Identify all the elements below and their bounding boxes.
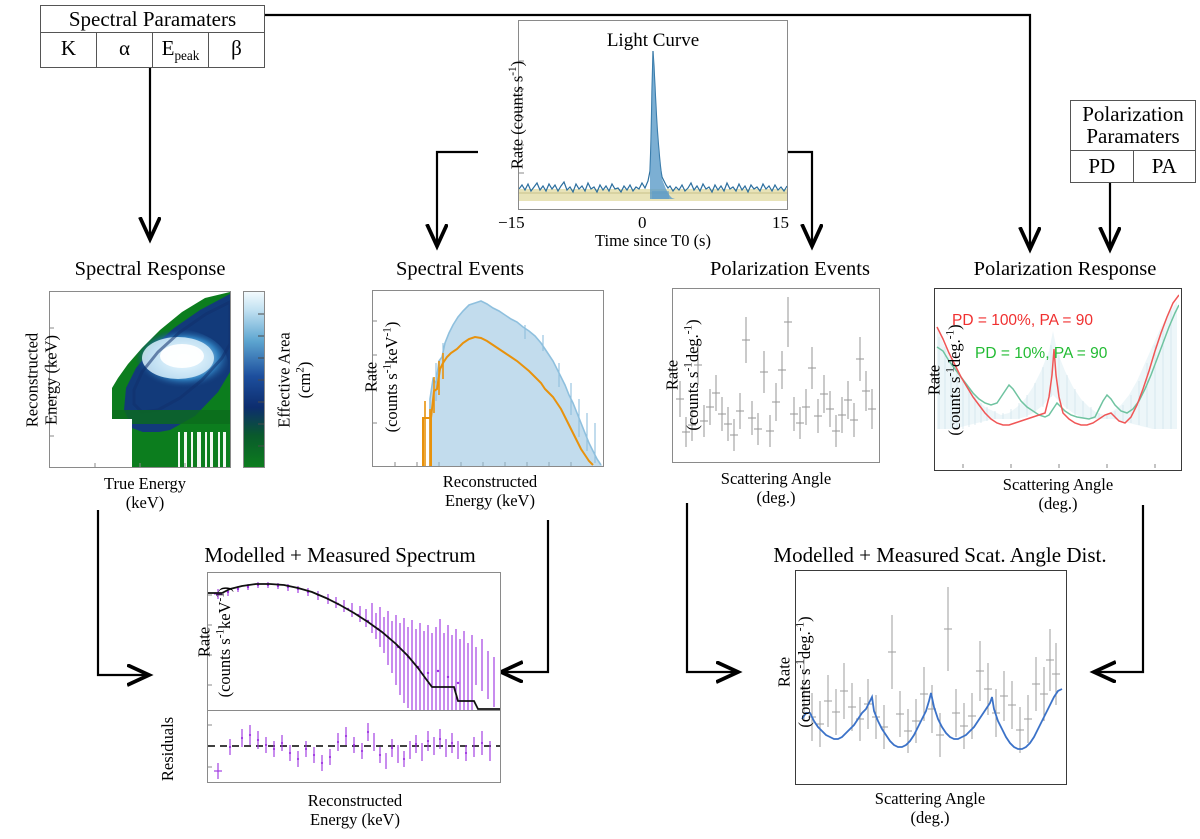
spectral-response-heatmap bbox=[50, 292, 230, 467]
param-cell-alpha: α bbox=[97, 33, 153, 67]
error-bars bbox=[800, 587, 1060, 757]
colorbar-gradient bbox=[244, 292, 264, 467]
param-cell-K: K bbox=[41, 33, 97, 67]
light-curve-plot: Light Curve bbox=[519, 21, 787, 209]
arrow-lightcurve-to-specevents bbox=[437, 152, 478, 245]
spectral-events-ylabel: Rate(counts s-1keV-1) bbox=[363, 290, 387, 465]
polarization-response-title: Polarization Response bbox=[930, 258, 1200, 281]
polarization-parameters-table: Polarization Paramaters PD PA bbox=[1070, 100, 1196, 183]
light-curve-ylabel: Rate (counts s-1) bbox=[507, 20, 527, 210]
polarization-events-panel bbox=[672, 288, 880, 463]
polarization-parameters-title: Polarization Paramaters bbox=[1071, 101, 1195, 151]
error-bars bbox=[676, 297, 876, 451]
spectral-events-plot bbox=[373, 291, 603, 466]
modelled-spectrum-residuals-panel bbox=[207, 711, 501, 783]
polarization-response-annotation-1: PD = 100%, PA = 90 bbox=[952, 312, 1093, 330]
modelled-spectrum-xlabel: ReconstructedEnergy (keV) bbox=[245, 792, 465, 830]
spectral-response-panel bbox=[49, 291, 231, 468]
spectral-response-xlabel: True Energy(keV) bbox=[55, 475, 235, 513]
modelled-scat-panel bbox=[795, 570, 1067, 785]
param-cell-epeak: Epeak bbox=[153, 33, 209, 67]
modelled-scat-ylabel: Rate(counts s-1deg.-1) bbox=[776, 585, 800, 760]
light-curve-panel: Light Curve bbox=[518, 20, 788, 210]
modelled-spectrum-plot bbox=[208, 573, 500, 710]
param-cell-PD: PD bbox=[1071, 151, 1134, 182]
xtick-15: 15 bbox=[772, 213, 789, 233]
spectral-response-ylabel: ReconstructedEnergy (keV) bbox=[24, 293, 48, 468]
polarization-response-ylabel: Rate(counts s-1deg.-1) bbox=[926, 293, 950, 468]
polarization-events-title: Polarization Events bbox=[655, 258, 925, 281]
modelled-scat-plot bbox=[796, 571, 1064, 782]
light-curve-xlabel: Time since T0 (s) bbox=[518, 232, 788, 251]
polarization-response-xlabel: Scattering Angle(deg.) bbox=[948, 476, 1168, 514]
modelled-spectrum-residual-label: Residuals bbox=[159, 689, 181, 809]
modelled-spectrum-panel bbox=[207, 572, 501, 711]
arrow-polresponse-to-modscat bbox=[1095, 505, 1143, 672]
polarization-events-plot bbox=[673, 289, 879, 462]
spectral-response-title: Spectral Response bbox=[20, 258, 280, 281]
polarization-events-xlabel: Scattering Angle(deg.) bbox=[666, 470, 886, 508]
spectral-events-xlabel: ReconstructedEnergy (keV) bbox=[380, 473, 600, 511]
polarization-response-annotation-2: PD = 10%, PA = 90 bbox=[975, 345, 1107, 363]
spectral-events-title: Spectral Events bbox=[340, 258, 580, 281]
spectral-response-colorbar-label: Effective Area(cm2) bbox=[276, 293, 300, 468]
svg-text:Light Curve: Light Curve bbox=[607, 30, 699, 51]
polarization-events-ylabel: Rate(counts s-1deg.-1) bbox=[664, 288, 688, 463]
param-cell-PA: PA bbox=[1134, 151, 1196, 182]
spectral-parameters-table: Spectral Paramaters K α Epeak β bbox=[40, 5, 265, 68]
spectral-response-colorbar bbox=[243, 291, 265, 468]
modelled-scat-title: Modelled + Measured Scat. Angle Dist. bbox=[700, 543, 1180, 568]
arrow-polevents-to-modscat bbox=[687, 503, 737, 672]
modelled-scat-xlabel: Scattering Angle(deg.) bbox=[820, 790, 1040, 828]
arrow-specresponse-to-modspectrum bbox=[98, 510, 148, 675]
modelled-spectrum-ylabel: Rate(counts s-1keV-1) bbox=[196, 555, 220, 730]
xtick-zero: 0 bbox=[638, 213, 647, 233]
residuals-plot bbox=[208, 711, 500, 781]
spectral-parameters-title: Spectral Paramaters bbox=[41, 6, 264, 33]
xtick-minus15: −15 bbox=[498, 213, 525, 233]
spectral-events-panel bbox=[372, 290, 604, 467]
param-cell-beta: β bbox=[209, 33, 264, 67]
